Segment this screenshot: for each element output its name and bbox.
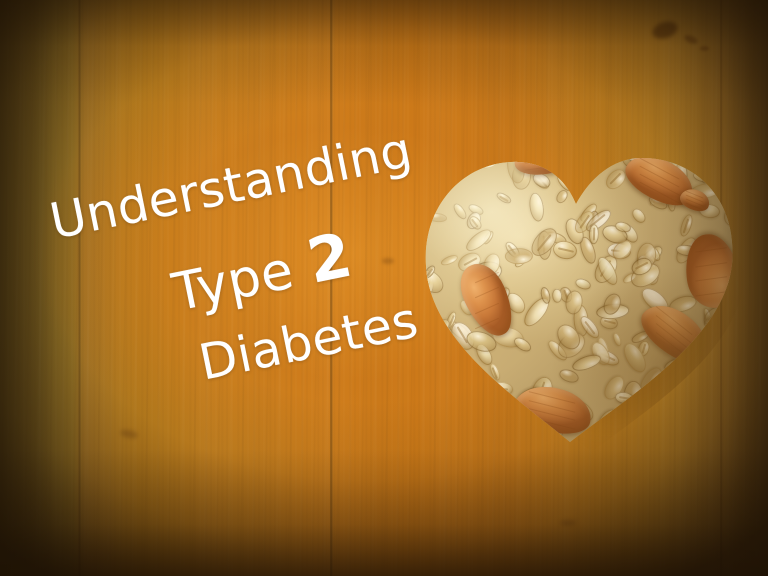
title-line-understanding: Understanding [45, 121, 417, 250]
image-canvas: Understanding Type 2 Diabetes [0, 0, 768, 576]
